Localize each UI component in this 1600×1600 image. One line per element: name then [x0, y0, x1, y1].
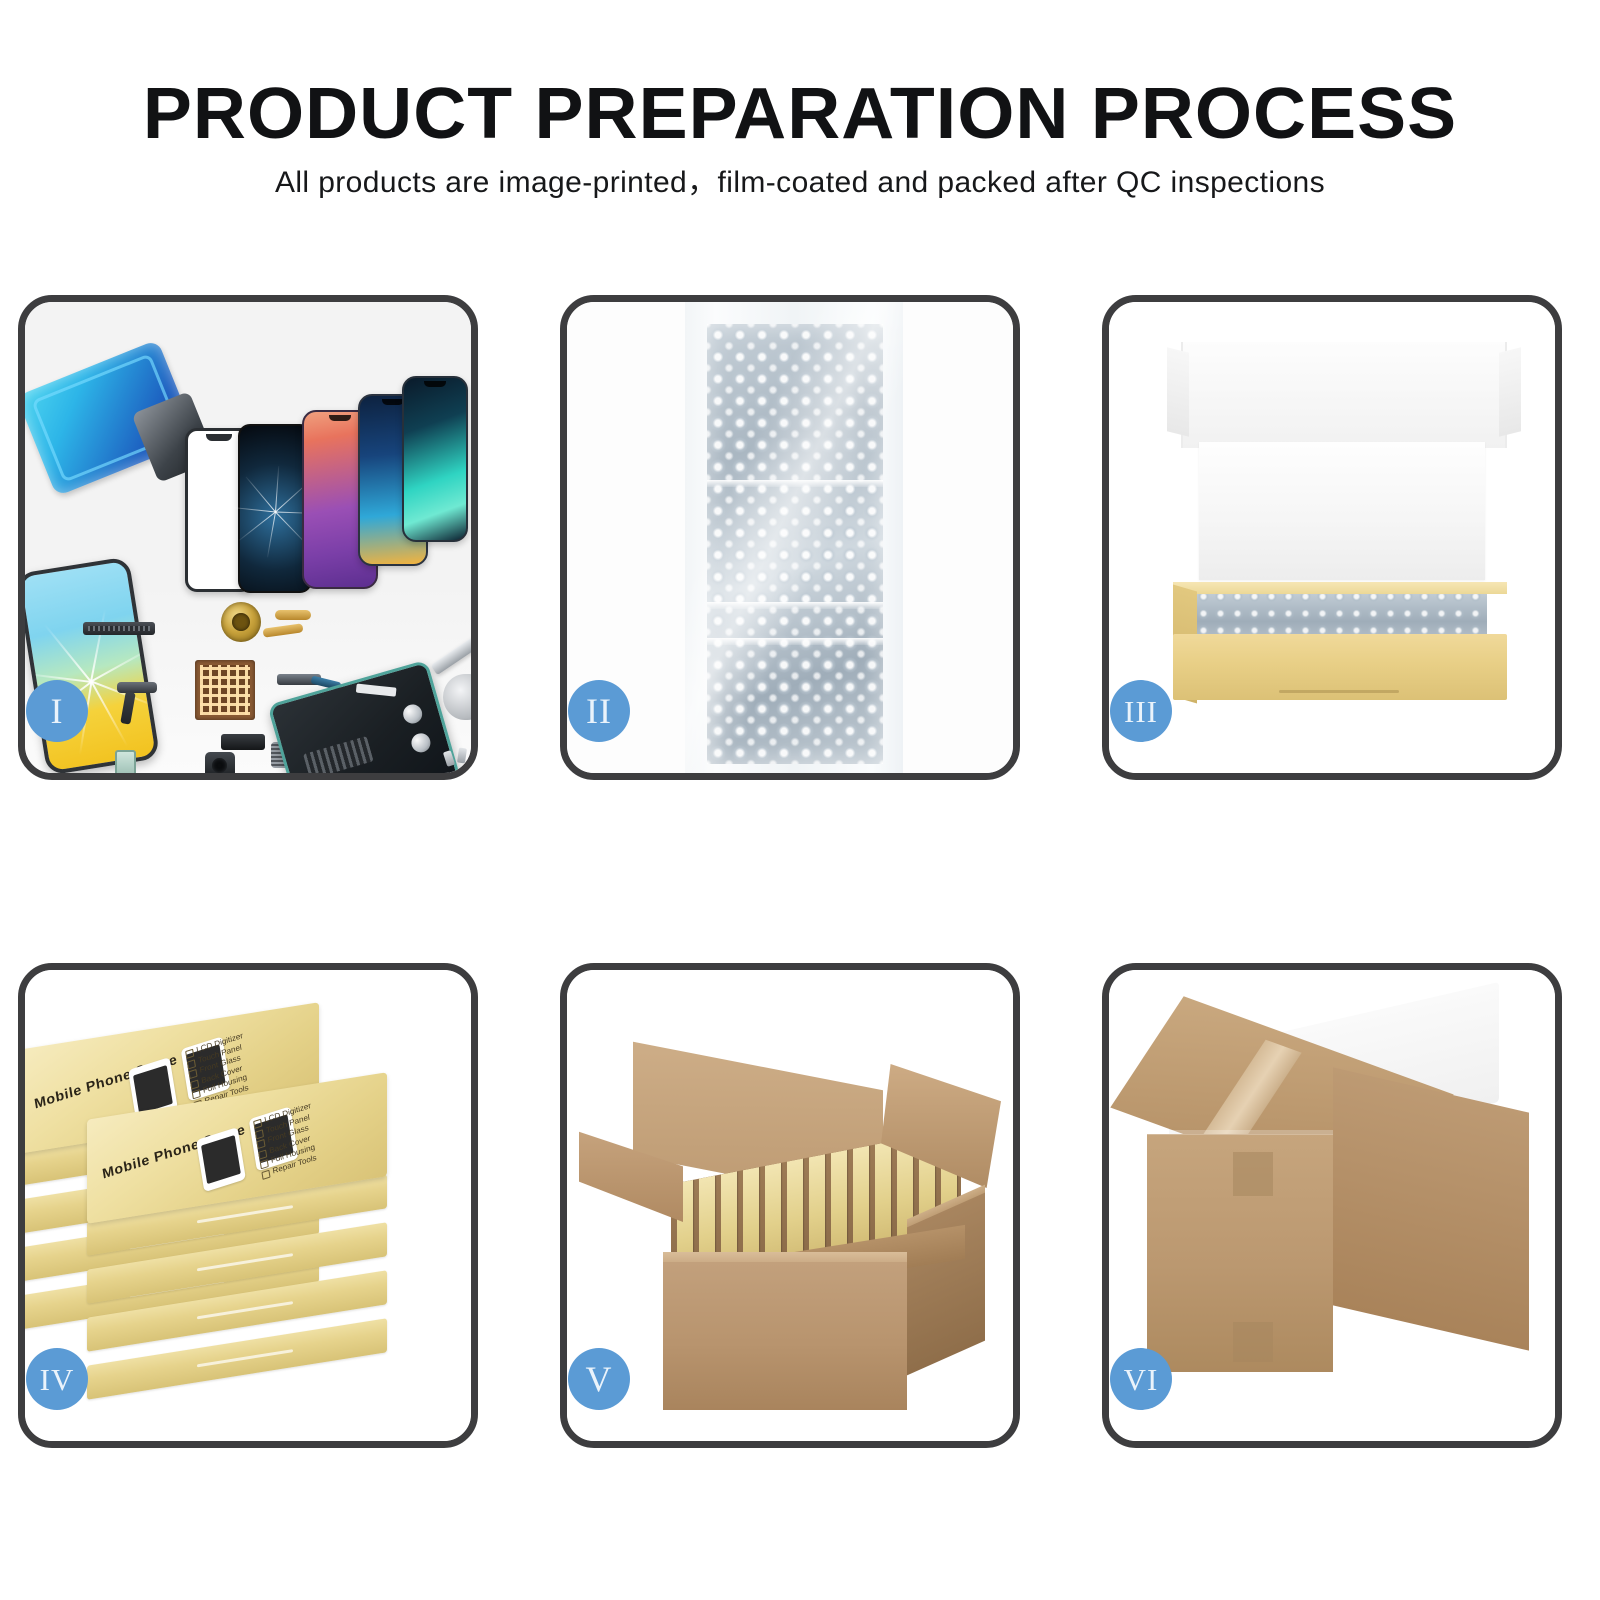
screws-graphic	[445, 748, 471, 770]
wrap-fold-line	[707, 638, 883, 645]
mailer-back-flap	[1181, 342, 1507, 448]
step-badge-5: V	[568, 1348, 630, 1410]
repair-tool-graphic	[431, 633, 471, 675]
camera-module-part	[205, 752, 235, 773]
wrap-fold-line	[707, 602, 883, 609]
open-mailer-scene	[1109, 302, 1555, 773]
mailer-lid-panel	[1199, 442, 1485, 580]
mailer-seam-line	[1279, 690, 1399, 693]
ic-chip-part	[195, 660, 255, 720]
sealed-carton-side	[1333, 1067, 1529, 1350]
wrap-fold-line	[707, 480, 883, 487]
carton-front-panel	[663, 1262, 907, 1410]
broken-phone-graphic	[25, 556, 160, 773]
sealed-carton-scene	[1109, 970, 1555, 1441]
cleaning-brush-graphic	[443, 674, 471, 720]
battery-connector-part	[221, 734, 265, 750]
phone-display-teal	[402, 376, 468, 542]
sim-tray-part	[115, 750, 136, 773]
step-badge-3: III	[1110, 680, 1172, 742]
shatter-lines	[25, 561, 125, 578]
carton-flap-tab-lower	[1233, 1322, 1273, 1362]
step-badge-2: II	[568, 680, 630, 742]
earpiece-mesh-part	[83, 622, 155, 635]
carton-flap-tab-upper	[1233, 1152, 1273, 1196]
boxed-stacks-scene: Mobile Phone Spare Parts LCD Digitizer T…	[25, 970, 471, 1441]
speaker-coil-part	[221, 602, 261, 642]
flex-cable-part-a	[117, 682, 171, 724]
step-badge-4: IV	[26, 1348, 88, 1410]
sealed-carton-top-edge	[1147, 1130, 1333, 1135]
box-checklist: LCD Digitizer Touch Panel Front Glass Ba…	[253, 1082, 381, 1180]
bubble-wrap-scene	[567, 302, 1013, 773]
flex-cable-part-b	[257, 610, 323, 648]
step-badge-6: VI	[1110, 1348, 1172, 1410]
cracked-screen-graphic	[238, 424, 312, 593]
phone-parts-scene	[25, 302, 471, 773]
open-carton-scene	[567, 970, 1013, 1441]
bubble-pattern-graphic	[707, 324, 883, 764]
process-step-grid: Mobile Phone Spare Parts LCD Digitizer T…	[0, 0, 1600, 1600]
mailer-top-edge	[1173, 582, 1507, 594]
step-badge-1: I	[26, 680, 88, 742]
